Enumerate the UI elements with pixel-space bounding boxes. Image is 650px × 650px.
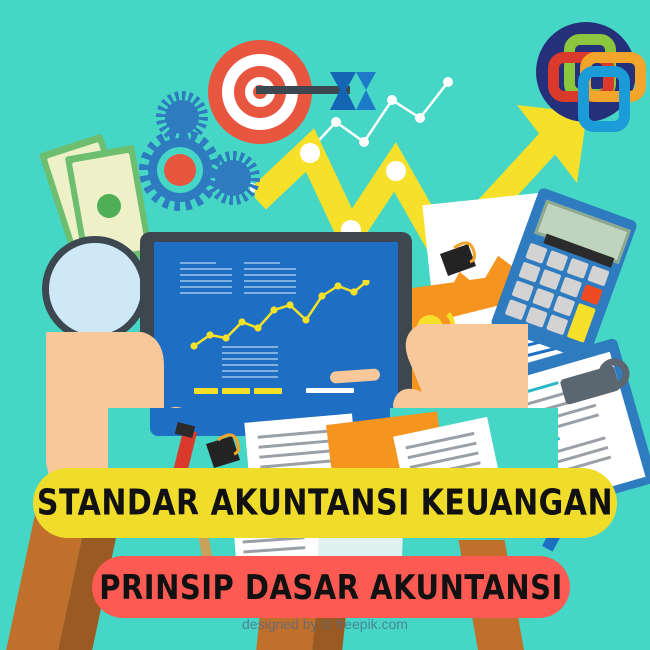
binder-clip-top-icon: [434, 236, 480, 280]
banner-secondary[interactable]: PRINSIP DASAR AKUNTANSI: [92, 556, 570, 618]
calculator-key-red[interactable]: [580, 284, 602, 305]
watermark-credit: designed by © freepik.com: [0, 616, 650, 632]
gear-hub-center: [164, 154, 196, 186]
tablet-bar-4: [306, 388, 354, 393]
tablet-bar-3: [254, 388, 282, 394]
clipboard-clip-icon: [560, 358, 634, 416]
tablet-line-chart: [190, 280, 370, 352]
banner-primary-text: STANDAR AKUNTANSI KEUANGAN: [37, 482, 613, 523]
logo-loop-blue: [578, 66, 630, 132]
magnifying-glass[interactable]: [42, 236, 148, 342]
tablet-bar-2: [222, 388, 250, 394]
banner-secondary-text: PRINSIP DASAR AKUNTANSI: [99, 567, 563, 607]
gear-small-right: [215, 160, 251, 196]
dart-arrow-fletching-icon: [330, 68, 378, 114]
interlocking-loops-logo[interactable]: [536, 22, 636, 122]
poster-canvas: STANDAR AKUNTANSI KEUANGAN PRINSIP DASAR…: [0, 0, 650, 650]
gear-large: [148, 138, 212, 202]
banner-primary[interactable]: STANDAR AKUNTANSI KEUANGAN: [33, 468, 617, 538]
